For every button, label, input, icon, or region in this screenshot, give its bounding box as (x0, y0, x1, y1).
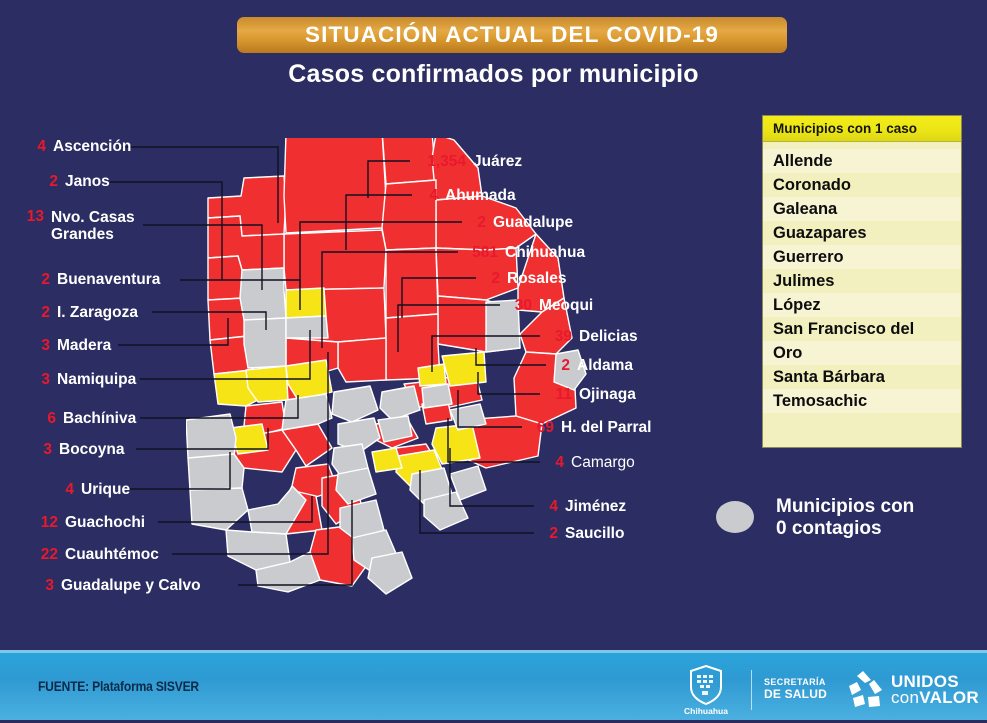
municipality-name: Urique (74, 482, 130, 498)
map-label-bocoyna: 3Bocoyna (34, 442, 124, 459)
map-label-h-del-parral: 69H. del Parral (528, 420, 651, 437)
footer: FUENTE: Plataforma SISVER Chihuahua SECR… (0, 650, 987, 720)
map-label-ahumada: 4Ahumada (420, 188, 516, 205)
municipality-name: Janos (58, 174, 110, 190)
case-count: 4 (28, 139, 46, 155)
legend-item: Temosachic (763, 389, 961, 413)
case-count: 39 (546, 329, 572, 345)
map-label-cuauht-moc: 22Cuauhtémoc (32, 547, 159, 564)
case-count: 2 (540, 526, 558, 542)
case-count: 3 (32, 372, 50, 388)
case-count: 4 (540, 499, 558, 515)
map-label-jim-nez: 4Jiménez (540, 499, 626, 516)
map-label-bach-niva: 6Bachíniva (38, 411, 136, 428)
municipality-name: Cuauhtémoc (58, 547, 159, 563)
legend-zero-label: Municipios con 0 contagios (776, 496, 976, 540)
legend-list: AllendeCoronadoGaleanaGuazaparesGuerrero… (763, 142, 961, 413)
case-count: 4 (546, 455, 564, 471)
subtitle: Casos confirmados por municipio (0, 60, 987, 89)
municipality-name: Guadalupe (486, 215, 573, 231)
municipality-name: Namiquipa (50, 372, 136, 388)
municipality-name: Guadalupe y Calvo (54, 578, 201, 594)
case-count: 13 (18, 209, 44, 225)
map-label-chihuahua: 581Chihuahua (462, 245, 585, 262)
map-label-madera: 3Madera (32, 338, 111, 355)
case-count: 22 (32, 547, 58, 563)
chihuahua-map (186, 138, 596, 628)
map-label-saucillo: 2Saucillo (540, 526, 624, 543)
case-count: 2 (552, 358, 570, 374)
title-banner: SITUACIÓN ACTUAL DEL COVID-19 (237, 17, 787, 53)
municipality-name: Madera (50, 338, 111, 354)
unidos-text: UNIDOS conVALOR (891, 674, 979, 706)
municipality-name: Buenaventura (50, 272, 160, 288)
legend-item: Santa Bárbara (763, 365, 961, 389)
map-label-delicias: 39Delicias (546, 329, 638, 346)
map-label-ascenci-n: 4Ascención (28, 139, 131, 156)
map-label-guadalupe-y-calvo: 3Guadalupe y Calvo (36, 578, 201, 595)
map-label-rosales: 2Rosales (482, 271, 566, 288)
case-count: 2 (482, 271, 500, 287)
map-label-aldama: 2Aldama (552, 358, 633, 375)
map-label-nvo-casas-grandes: 13Nvo. Casas Grandes (18, 209, 135, 244)
map-label-guadalupe: 2Guadalupe (468, 215, 573, 232)
case-count: 4 (420, 188, 438, 204)
municipality-name: Juárez (466, 154, 522, 170)
legend-item: López (763, 293, 961, 317)
legend-one-case-box: Municipios con 1 caso AllendeCoronadoGal… (762, 115, 962, 448)
map-label-buenaventura: 2Buenaventura (32, 272, 160, 289)
municipality-name: Nvo. Casas Grandes (44, 209, 135, 244)
legend-item: Galeana (763, 197, 961, 221)
map-label-i-zaragoza: 2I. Zaragoza (32, 305, 138, 322)
case-count: 4 (56, 482, 74, 498)
municipality-name: H. del Parral (554, 420, 651, 436)
municipality-name: Saucillo (558, 526, 624, 542)
footer-source: FUENTE: Plataforma SISVER (38, 678, 199, 694)
municipality-name: Ascención (46, 139, 131, 155)
municipality-name: Rosales (500, 271, 566, 287)
municipality-name: Bocoyna (52, 442, 124, 458)
legend-zero-cases: Municipios con 0 contagios (716, 496, 976, 552)
unidos-con-valor-logo: UNIDOS conVALOR (843, 668, 979, 712)
footer-logos: Chihuahua SECRETARÍA DE SALUD UNIDOS con… (673, 657, 979, 723)
case-count: 2 (468, 215, 486, 231)
map-label-camargo: 4Camargo (546, 455, 635, 472)
secretaria-salud-logo: SECRETARÍA DE SALUD (764, 678, 827, 701)
chihuahua-label: Chihuahua (684, 706, 728, 716)
map-label-guachochi: 12Guachochi (32, 515, 145, 532)
municipality-name: Guachochi (58, 515, 145, 531)
banner-title: SITUACIÓN ACTUAL DEL COVID-19 (305, 22, 719, 48)
legend-title: Municipios con 1 caso (763, 121, 917, 136)
map-label-namiquipa: 3Namiquipa (32, 372, 136, 389)
legend-item: Allende (763, 149, 961, 173)
municipality-name: Chihuahua (498, 245, 585, 261)
case-count: 11 (546, 387, 572, 403)
case-count: 3 (36, 578, 54, 594)
map-svg (186, 138, 596, 628)
header: SITUACIÓN ACTUAL DEL COVID-19 Casos conf… (0, 0, 987, 110)
municipality-name: Aldama (570, 358, 633, 374)
map-label-ju-rez: 1,354Juárez (418, 154, 522, 171)
municipality-name: Jiménez (558, 499, 626, 515)
map-label-janos: 2Janos (40, 174, 110, 191)
case-count: 69 (528, 420, 554, 436)
legend-item: Julimes (763, 269, 961, 293)
municipality-name: Camargo (564, 455, 635, 471)
legend-item: Oro (763, 341, 961, 365)
case-count: 3 (34, 442, 52, 458)
case-count: 30 (506, 298, 532, 314)
legend-item: San Francisco del (763, 317, 961, 341)
case-count: 3 (32, 338, 50, 354)
map-label-urique: 4Urique (56, 482, 130, 499)
chihuahua-logo: Chihuahua (673, 665, 739, 716)
legend-item: Coronado (763, 173, 961, 197)
shield-icon (689, 665, 723, 705)
municipality-name: I. Zaragoza (50, 305, 138, 321)
legend-item: Guerrero (763, 245, 961, 269)
municipality-name: Ahumada (438, 188, 516, 204)
unidos-line2: conVALOR (891, 690, 979, 706)
municipality-name: Ojinaga (572, 387, 636, 403)
logo-divider (751, 670, 752, 710)
case-count: 581 (462, 245, 498, 261)
case-count: 2 (32, 272, 50, 288)
municipality-name: Delicias (572, 329, 638, 345)
case-count: 6 (38, 411, 56, 427)
recycle-people-icon (843, 668, 887, 712)
municipality-name: Meoqui (532, 298, 593, 314)
gray-circle-icon (716, 501, 754, 533)
municipality-name: Bachíniva (56, 411, 136, 427)
case-count: 2 (32, 305, 50, 321)
map-label-meoqui: 30Meoqui (506, 298, 593, 315)
legend-header: Municipios con 1 caso (763, 116, 961, 142)
legend-item: Guazapares (763, 221, 961, 245)
case-count: 1,354 (418, 154, 466, 170)
map-label-ojinaga: 11Ojinaga (546, 387, 636, 404)
secretaria-line2: DE SALUD (764, 688, 827, 701)
case-count: 12 (32, 515, 58, 531)
case-count: 2 (40, 174, 58, 190)
